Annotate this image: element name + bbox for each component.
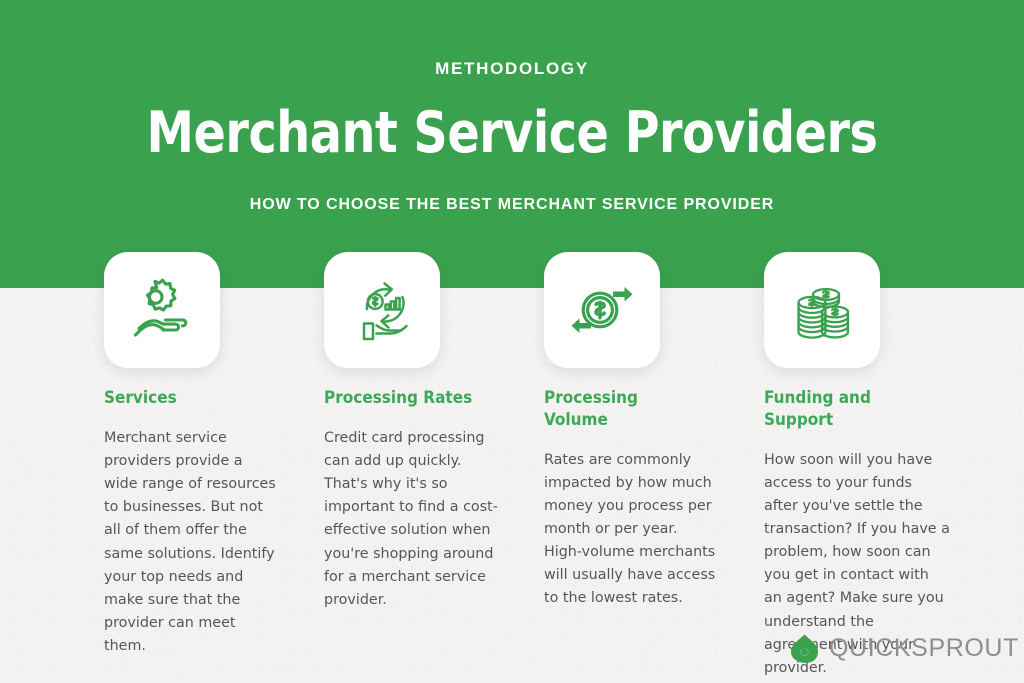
column-body-processing-volume: Rates are commonly impacted by how much … (544, 449, 720, 611)
page-title: Merchant Service Providers (36, 104, 988, 164)
page-subtitle: HOW TO CHOOSE THE BEST MERCHANT SERVICE … (0, 196, 1024, 214)
column-heading-processing-volume: Processing Volume (544, 388, 720, 432)
column-heading-processing-rates: Processing Rates (324, 388, 500, 410)
hand-with-recycle-chart-icon (343, 271, 421, 349)
quicksprout-leaf-icon (789, 633, 820, 664)
column-heading-funding-support: Funding and Support (764, 388, 950, 432)
arrow-right (613, 287, 633, 302)
logo-text: QUICKSPROUT (829, 634, 1019, 663)
eyebrow-label: METHODOLOGY (0, 59, 1024, 79)
icon-card-processing-rates (324, 252, 440, 368)
icon-card-funding-support (764, 252, 880, 368)
coin-stacks-icon (783, 271, 861, 349)
column-heading-services: Services (104, 388, 280, 410)
column-funding-support: Funding and Support How soon will you ha… (764, 252, 950, 680)
gear-in-hand-icon (123, 271, 201, 349)
column-body-services: Merchant service providers provide a wid… (104, 427, 280, 659)
quicksprout-logo: QUICKSPROUT (789, 633, 1019, 664)
column-processing-volume: Processing Volume Rates are commonly imp… (544, 252, 720, 611)
infographic-page: METHODOLOGY Merchant Service Providers H… (0, 0, 1024, 683)
dollar-coin-transfer-arrows-icon (563, 271, 641, 349)
icon-card-processing-volume (544, 252, 660, 368)
column-body-processing-rates: Credit card processing can add up quickl… (324, 427, 500, 612)
column-processing-rates: Processing Rates Credit card processing … (324, 252, 500, 612)
column-services: Services Merchant service providers prov… (104, 252, 280, 658)
icon-card-services (104, 252, 220, 368)
